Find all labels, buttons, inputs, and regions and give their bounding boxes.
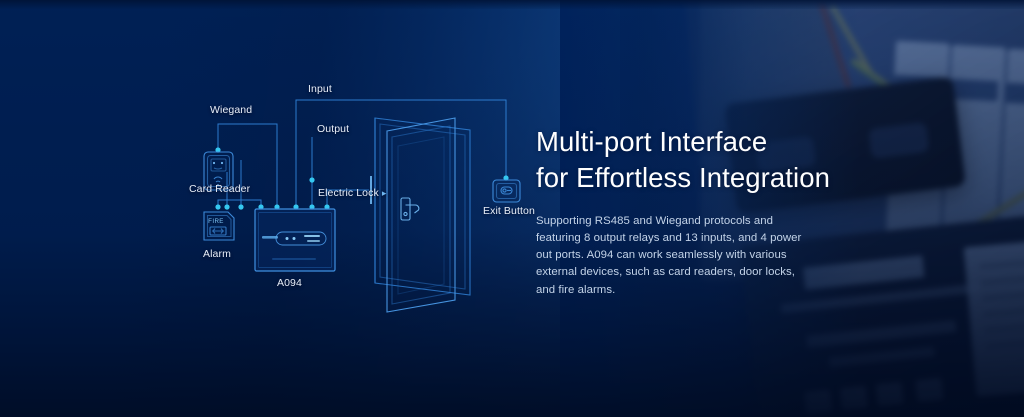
fire-alarm-face-text: FIRE bbox=[208, 218, 224, 225]
label-electric-lock-text: Electric Lock bbox=[318, 187, 379, 199]
label-card-reader: Card Reader bbox=[189, 183, 250, 195]
node-reader-stub bbox=[238, 204, 243, 209]
label-alarm: Alarm bbox=[203, 248, 231, 260]
label-wiegand: Wiegand bbox=[210, 104, 252, 116]
door-assembly-icon bbox=[371, 118, 470, 312]
body-description: Supporting RS485 and Wiegand protocols a… bbox=[536, 213, 812, 300]
headline-line-2: for Effortless Integration bbox=[536, 160, 866, 196]
label-a094: A094 bbox=[277, 277, 302, 289]
label-exit-button: Exit Button bbox=[483, 205, 535, 217]
exit-button-icon bbox=[493, 180, 520, 202]
a094-controller-icon bbox=[255, 209, 335, 271]
label-output: Output bbox=[317, 123, 349, 135]
node-alarm bbox=[215, 204, 220, 209]
label-electric-lock: Electric Lock▸ bbox=[318, 187, 386, 199]
page-title: Multi-port Interface for Effortless Inte… bbox=[536, 124, 866, 196]
fire-alarm-icon bbox=[204, 212, 234, 240]
electric-lock-arrow-icon: ▸ bbox=[379, 188, 387, 198]
product-feature-banner: FIRE bbox=[0, 0, 1024, 417]
wiring-schematic: FIRE bbox=[0, 0, 560, 417]
headline-line-1: Multi-port Interface bbox=[536, 126, 767, 157]
text-block: Multi-port Interface for Effortless Inte… bbox=[536, 124, 866, 299]
node-electric-lock-label bbox=[309, 177, 314, 182]
wiring-schematic-svg: FIRE bbox=[0, 0, 560, 417]
node-reader-stub-2 bbox=[224, 204, 229, 209]
label-input: Input bbox=[308, 83, 332, 95]
door-handle-icon bbox=[401, 198, 419, 220]
